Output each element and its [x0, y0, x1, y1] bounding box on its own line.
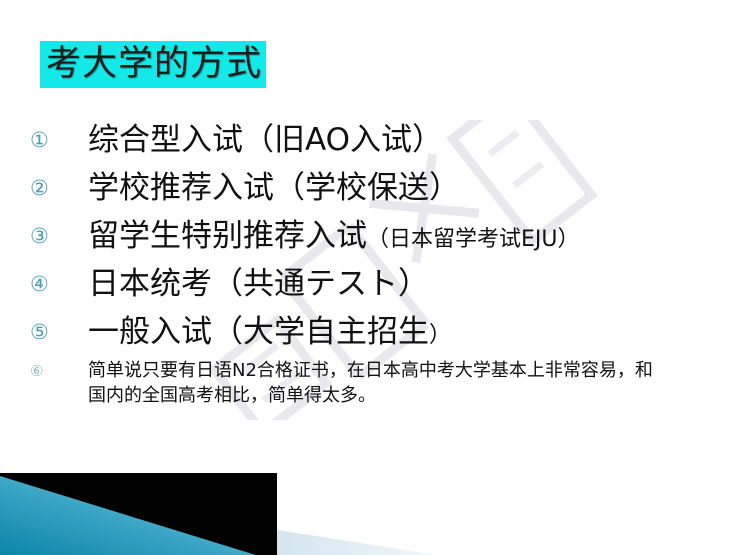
- exam-methods-list: ① 综合型入试（旧AO入试） ② 学校推荐入试（学校保送） ③ 留学生特别推荐入…: [0, 118, 740, 408]
- decorative-banner: [0, 445, 740, 555]
- list-text-1: 综合型入试（旧AO入试）: [88, 118, 740, 166]
- page-title: 考大学的方式: [40, 41, 266, 88]
- list-marker-1: ①: [30, 118, 88, 162]
- list-marker-4: ④: [30, 262, 88, 306]
- list-text-4: 日本统考（共通テスト）: [88, 262, 740, 310]
- list-marker-5: ⑤: [30, 310, 88, 354]
- list-item: ④ 日本统考（共通テスト）: [0, 262, 740, 310]
- list-item: ⑤ 一般入试（大学自主招生）: [0, 310, 740, 358]
- list-item: ① 综合型入试（旧AO入试）: [0, 118, 740, 166]
- list-text-2: 学校推荐入试（学校保送）: [88, 166, 740, 214]
- deco-pale-wedge: [277, 530, 437, 555]
- list-item: ③ 留学生特别推荐入试（日本留学考试EJU）: [0, 214, 740, 262]
- list-text-3: 留学生特别推荐入试（日本留学考试EJU）: [88, 214, 740, 262]
- list-item-note: ⑥ 简单说只要有日语N2合格证书，在日本高中考大学基本上非常容易，和国内的全国高…: [0, 358, 740, 408]
- list-text-6: 简单说只要有日语N2合格证书，在日本高中考大学基本上非常容易，和国内的全国高考相…: [88, 358, 668, 408]
- slide-canvas: 考大学的方式 ① 综合型入试（旧AO入试） ② 学校推荐入试（学校保送） ③ 留…: [0, 0, 740, 555]
- list-marker-3: ③: [30, 214, 88, 258]
- list-text-5: 一般入试（大学自主招生）: [88, 310, 740, 358]
- list-marker-6: ⑥: [30, 358, 88, 384]
- list-item: ② 学校推荐入试（学校保送）: [0, 166, 740, 214]
- list-marker-2: ②: [30, 166, 88, 210]
- page-title-text: 考大学的方式: [40, 41, 266, 88]
